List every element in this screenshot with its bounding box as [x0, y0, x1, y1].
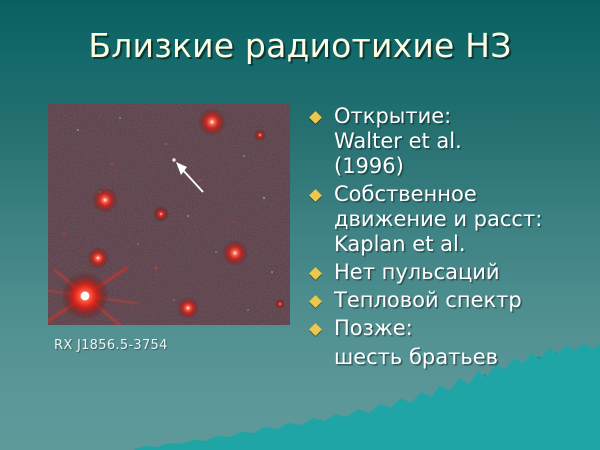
- figure-caption: RX J1856.5-3754: [54, 338, 168, 353]
- diamond-bullet-icon: [309, 111, 322, 124]
- red-star: [254, 129, 266, 141]
- continuation-text: шесть братьев: [334, 345, 598, 370]
- sky-field-image: [48, 104, 290, 325]
- bullet-item-later[interactable]: Позже:: [306, 316, 598, 341]
- diamond-bullet-icon: [309, 267, 322, 280]
- presentation-slide: Близкие радиотихие НЗ: [0, 0, 600, 450]
- bullet-list: Открытие: Walter et al. (1996) Собственн…: [306, 104, 598, 370]
- bullet-line: Kaplan et al.: [334, 232, 598, 257]
- diamond-bullet-icon: [309, 323, 322, 336]
- bullet-line: Тепловой спектр: [334, 288, 598, 313]
- bullet-line: Нет пульсаций: [334, 260, 598, 285]
- bullet-item-discovery[interactable]: Открытие: Walter et al. (1996): [306, 104, 598, 179]
- slide-title: Близкие радиотихие НЗ: [0, 26, 600, 66]
- target-object-dot: [172, 158, 175, 161]
- figure-container: [48, 104, 290, 325]
- bullet-item-proper-motion[interactable]: Собственное движение и расст: Kaplan et …: [306, 182, 598, 257]
- bullet-line: Собственное: [334, 182, 598, 207]
- bullet-line: Открытие:: [334, 104, 598, 129]
- bullet-line: Позже:: [334, 316, 598, 341]
- bullet-continuation-line: шесть братьев: [306, 345, 598, 370]
- red-star: [153, 206, 169, 222]
- red-star: [87, 247, 109, 269]
- bullet-line: Walter et al.: [334, 129, 598, 154]
- diamond-bullet-icon: [309, 189, 322, 202]
- bullet-line: движение и расст:: [334, 207, 598, 232]
- red-star: [275, 299, 285, 309]
- red-star: [92, 187, 118, 213]
- bullet-item-thermal-spectrum[interactable]: Тепловой спектр: [306, 288, 598, 313]
- red-star: [177, 297, 199, 319]
- red-star: [222, 240, 248, 266]
- red-star: [198, 108, 226, 136]
- bullet-item-no-pulsations[interactable]: Нет пульсаций: [306, 260, 598, 285]
- diamond-bullet-icon: [309, 295, 322, 308]
- bullet-line: (1996): [334, 154, 598, 179]
